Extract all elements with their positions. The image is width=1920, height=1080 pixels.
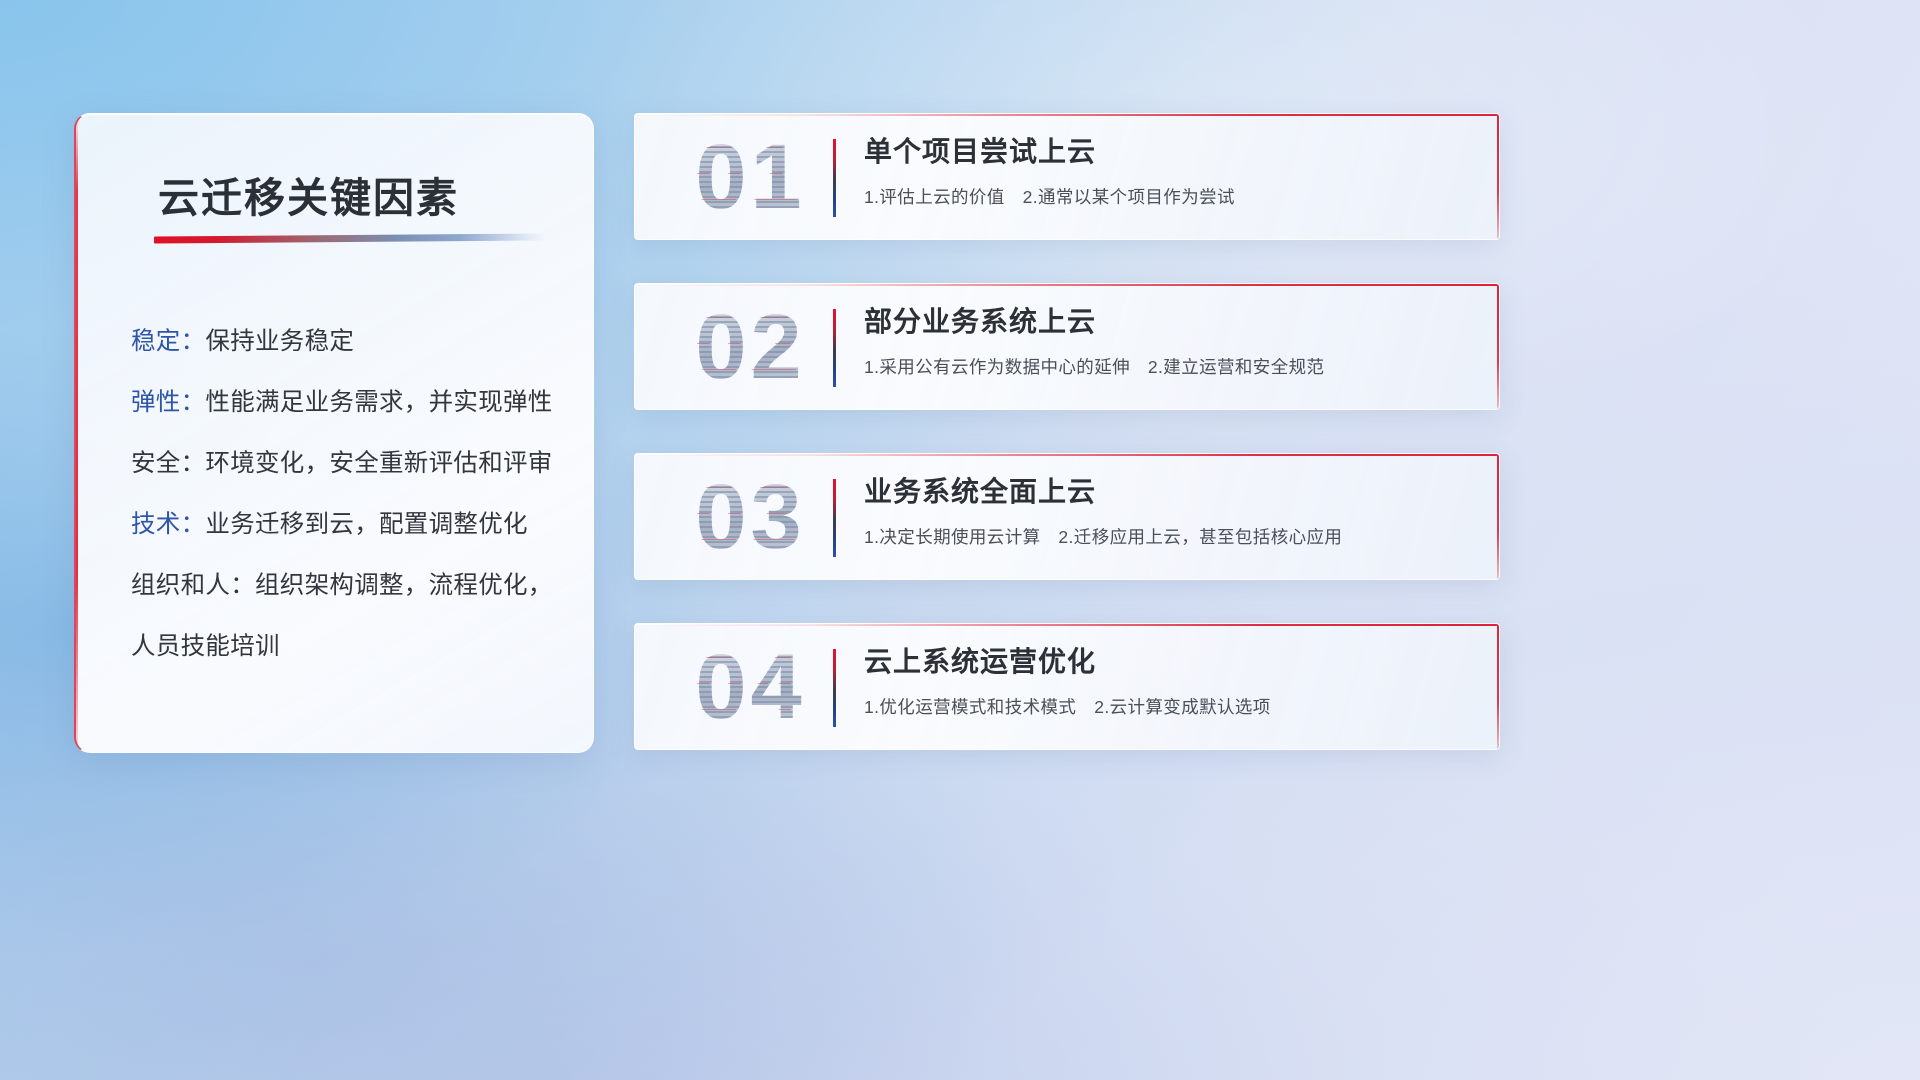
- stage-body: 部分业务系统上云 1.采用公有云作为数据中心的延伸 2.建立运营和安全规范: [864, 300, 1475, 382]
- stage-title: 业务系统全面上云: [864, 470, 1475, 514]
- stage-number: 04: [663, 631, 838, 743]
- stage-points: 1.决定长期使用云计算 2.迁移应用上云，甚至包括核心应用: [864, 522, 1475, 552]
- factor-key: 技术：: [131, 511, 205, 538]
- stage-body: 业务系统全面上云 1.决定长期使用云计算 2.迁移应用上云，甚至包括核心应用: [864, 470, 1475, 552]
- title-underline-rule: [154, 233, 546, 243]
- stage-number: 01: [663, 121, 838, 233]
- stage-card-01[interactable]: 01 01 单个项目尝试上云 1.评估上云的价值 2.通常以某个项目作为尝试: [634, 113, 1500, 240]
- stage-card-02[interactable]: 02 02 部分业务系统上云 1.采用公有云作为数据中心的延伸 2.建立运营和安…: [634, 283, 1500, 410]
- stage-body: 云上系统运营优化 1.优化运营模式和技术模式 2.云计算变成默认选项: [864, 640, 1475, 722]
- stage-accent-bar: [833, 479, 836, 557]
- factor-text: 业务迁移到云，配置调整优化: [205, 511, 527, 538]
- factor-key: 组织和人：: [131, 572, 255, 599]
- factor-text: 组织架构调整，流程优化，: [255, 572, 553, 599]
- stage-title: 云上系统运营优化: [864, 640, 1475, 684]
- stage-accent-bar: [833, 649, 836, 727]
- factor-text: 保持业务稳定: [205, 328, 354, 355]
- factor-key: 弹性：: [131, 389, 205, 416]
- stage-points: 1.优化运营模式和技术模式 2.云计算变成默认选项: [864, 692, 1475, 722]
- stage-points: 1.采用公有云作为数据中心的延伸 2.建立运营和安全规范: [864, 352, 1475, 382]
- slide-stage: 云迁移关键因素 稳定：保持业务稳定 弹性：性能满足业务需求，并实现弹性 安全：环…: [0, 0, 1920, 1080]
- list-item: 安全：环境变化，安全重新评估和评审: [131, 433, 567, 494]
- list-item: 技术：业务迁移到云，配置调整优化: [131, 494, 567, 555]
- stage-points: 1.评估上云的价值 2.通常以某个项目作为尝试: [864, 182, 1475, 212]
- stage-card-list: 01 01 单个项目尝试上云 1.评估上云的价值 2.通常以某个项目作为尝试 0…: [634, 113, 1500, 793]
- factor-text: 人员技能培训: [131, 633, 280, 660]
- key-factors-list: 稳定：保持业务稳定 弹性：性能满足业务需求，并实现弹性 安全：环境变化，安全重新…: [131, 311, 567, 677]
- list-item: 组织和人：组织架构调整，流程优化，: [131, 555, 567, 616]
- list-item: 人员技能培训: [131, 616, 567, 677]
- factor-text: 环境变化，安全重新评估和评审: [205, 450, 552, 477]
- stage-title: 部分业务系统上云: [864, 300, 1475, 344]
- list-item: 稳定：保持业务稳定: [131, 311, 567, 372]
- stage-number: 03: [663, 461, 838, 573]
- factor-key: 稳定：: [131, 328, 205, 355]
- list-item: 弹性：性能满足业务需求，并实现弹性: [131, 372, 567, 433]
- page-title: 云迁移关键因素: [158, 164, 558, 224]
- stage-accent-bar: [833, 139, 836, 217]
- factor-key: 安全：: [131, 450, 205, 477]
- stage-card-03[interactable]: 03 03 业务系统全面上云 1.决定长期使用云计算 2.迁移应用上云，甚至包括…: [634, 453, 1500, 580]
- stage-title: 单个项目尝试上云: [864, 130, 1475, 174]
- key-factors-panel: 云迁移关键因素 稳定：保持业务稳定 弹性：性能满足业务需求，并实现弹性 安全：环…: [74, 113, 594, 753]
- factor-text: 性能满足业务需求，并实现弹性: [205, 389, 552, 416]
- stage-body: 单个项目尝试上云 1.评估上云的价值 2.通常以某个项目作为尝试: [864, 130, 1475, 212]
- stage-card-04[interactable]: 04 04 云上系统运营优化 1.优化运营模式和技术模式 2.云计算变成默认选项: [634, 623, 1500, 750]
- stage-accent-bar: [833, 309, 836, 387]
- stage-number: 02: [663, 291, 838, 403]
